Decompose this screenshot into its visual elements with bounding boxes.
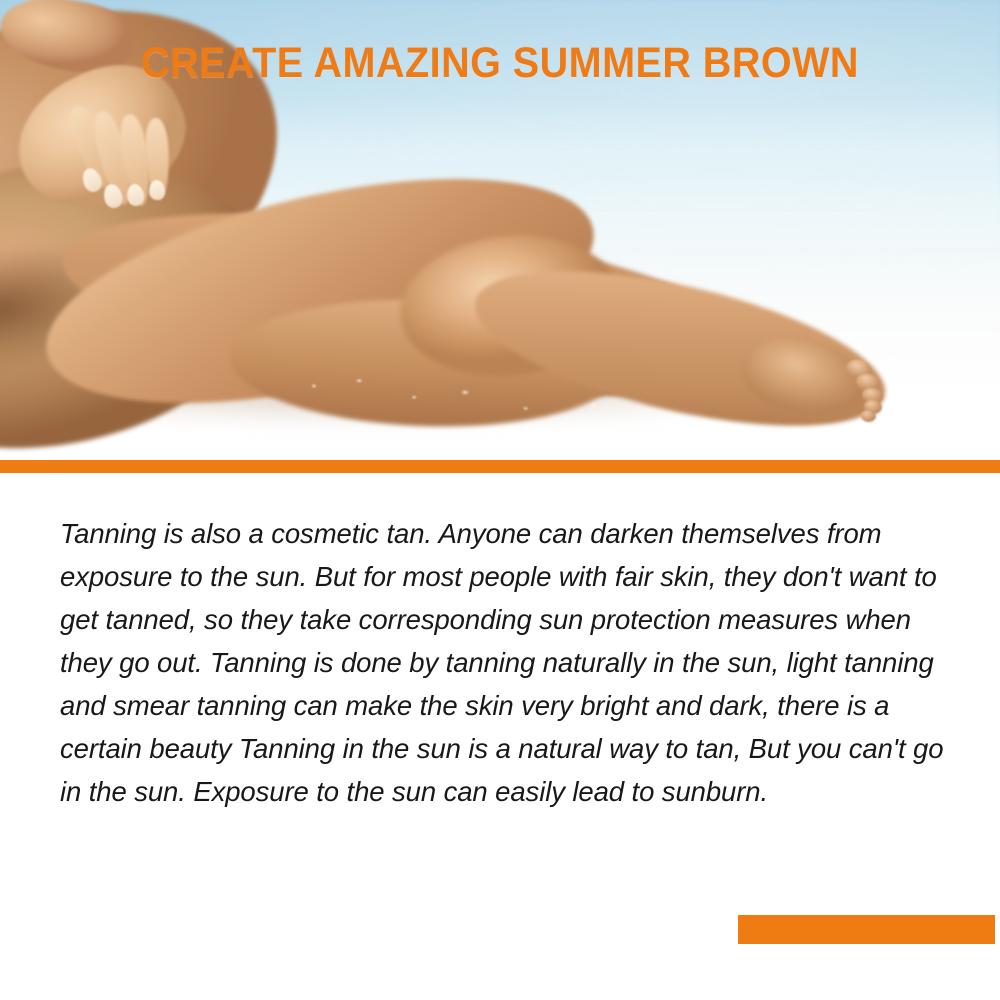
product-description-page: CREATE AMAZING SUMMER BROWN Tanning is a… — [0, 0, 1000, 1000]
hero-banner-image: CREATE AMAZING SUMMER BROWN — [0, 0, 1000, 460]
toe-shape — [861, 409, 877, 422]
page-title: CREATE AMAZING SUMMER BROWN — [40, 38, 960, 88]
bottom-accent-bar — [738, 915, 995, 944]
description-paragraph: Tanning is also a cosmetic tan. Anyone c… — [60, 512, 955, 813]
orange-divider-bar — [0, 460, 1000, 473]
